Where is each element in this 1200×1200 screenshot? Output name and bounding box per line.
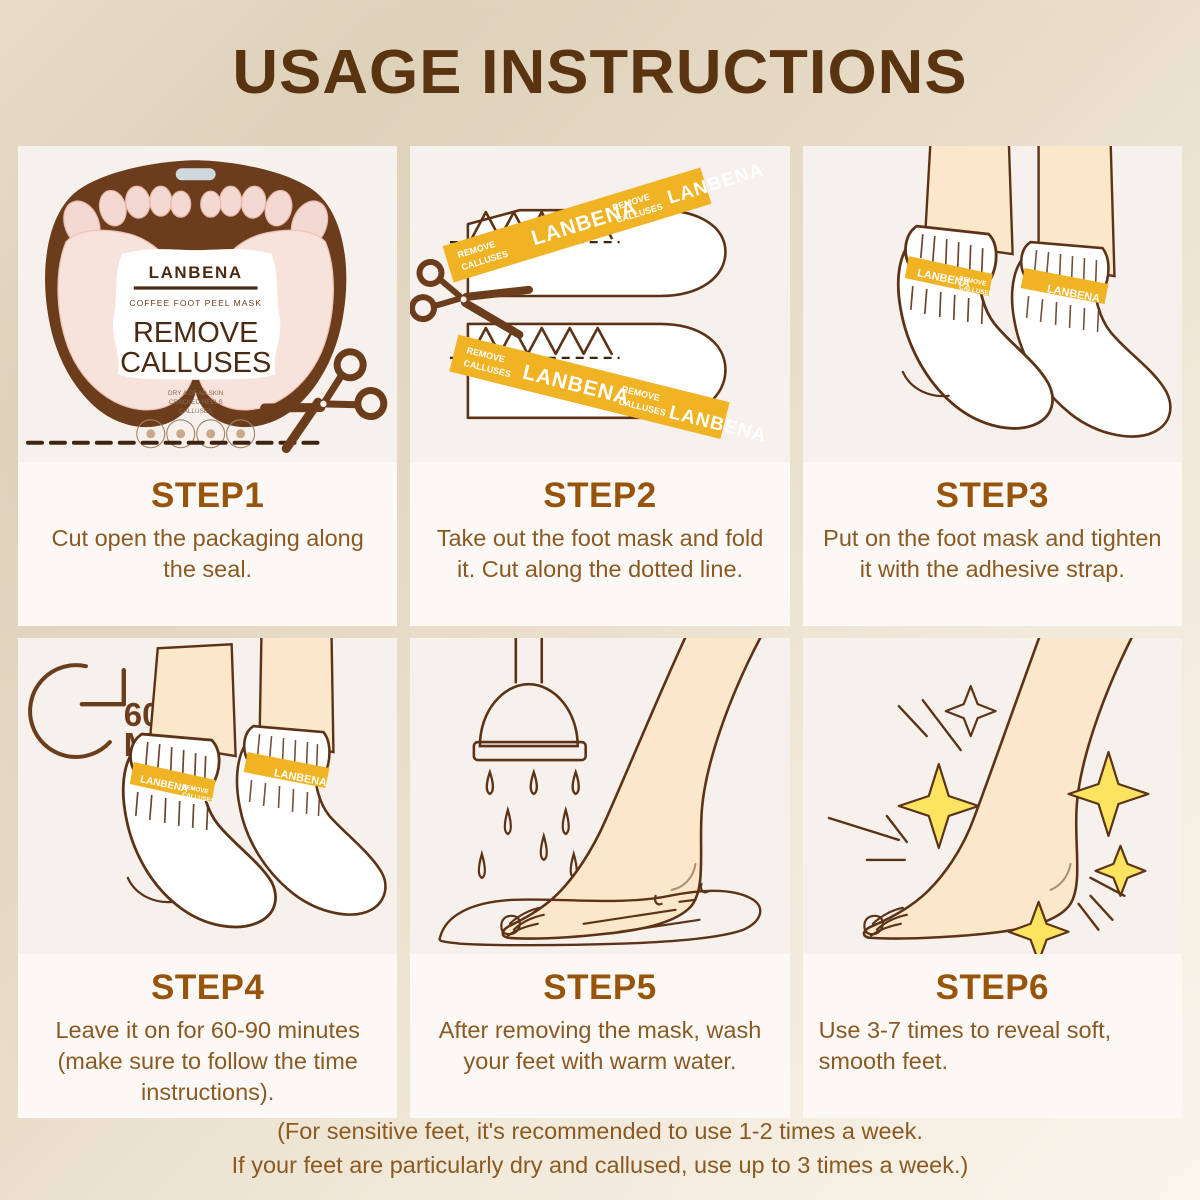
- step-6-illustration: [803, 638, 1182, 954]
- step-2-caption: STEP2 Take out the foot mask and fold it…: [410, 462, 789, 626]
- step-2-description: Take out the foot mask and fold it. Cut …: [426, 523, 773, 585]
- step-3-title: STEP3: [819, 476, 1166, 516]
- step-1-title: STEP1: [34, 476, 381, 516]
- step-4-title: STEP4: [34, 968, 381, 1008]
- step-4-caption: STEP4 Leave it on for 60-90 minutes (mak…: [18, 954, 397, 1118]
- step-6-description: Use 3-7 times to reveal soft, smooth fee…: [819, 1015, 1166, 1077]
- product-subtitle: COFFEE FOOT PEEL MASK: [129, 298, 261, 308]
- step-1-illustration: LANBENA COFFEE FOOT PEEL MASK REMOVE CAL…: [18, 146, 397, 462]
- step-3-caption: STEP3 Put on the foot mask and tighten i…: [803, 462, 1182, 626]
- step-3-description: Put on the foot mask and tighten it with…: [819, 523, 1166, 585]
- step-1-description: Cut open the packaging along the seal.: [34, 523, 381, 585]
- svg-text:DRY & DEAD SKIN: DRY & DEAD SKIN: [168, 390, 224, 397]
- product-brand: LANBENA: [149, 263, 243, 282]
- footer-line-2: If your feet are particularly dry and ca…: [0, 1149, 1200, 1182]
- step-5-caption: STEP5 After removing the mask, wash your…: [410, 954, 789, 1118]
- svg-text:CALLUSES: CALLUSES: [179, 408, 212, 415]
- step-5-description: After removing the mask, wash your feet …: [426, 1015, 773, 1077]
- water-drops: [479, 772, 579, 878]
- step-3-illustration: LANBENA: [803, 146, 1182, 462]
- step-card-3: LANBENA: [803, 146, 1182, 626]
- step-5-illustration: [410, 638, 789, 954]
- page-title: USAGE INSTRUCTIONS: [0, 0, 1200, 104]
- step-6-title: STEP6: [819, 968, 1166, 1008]
- product-headline-1: REMOVE: [133, 317, 258, 349]
- footer-note: (For sensitive feet, it's recommended to…: [0, 1115, 1200, 1182]
- svg-text:LANBENA: LANBENA: [665, 160, 766, 209]
- step-4-description: Leave it on for 60-90 minutes (make sure…: [34, 1015, 381, 1108]
- step-card-2: LANBENA REMOVE CALLUSES LANBENA REMOVE C…: [410, 146, 789, 626]
- clock-icon: [30, 665, 124, 757]
- step-1-caption: STEP1 Cut open the packaging along the s…: [18, 462, 397, 626]
- step-5-title: STEP5: [426, 968, 773, 1008]
- step-6-caption: STEP6 Use 3-7 times to reveal soft, smoo…: [803, 954, 1182, 1118]
- steps-grid: LANBENA COFFEE FOOT PEEL MASK REMOVE CAL…: [18, 146, 1182, 1118]
- step-card-1: LANBENA COFFEE FOOT PEEL MASK REMOVE CAL…: [18, 146, 397, 626]
- step-2-illustration: LANBENA REMOVE CALLUSES LANBENA REMOVE C…: [410, 146, 789, 462]
- footer-line-1: (For sensitive feet, it's recommended to…: [0, 1115, 1200, 1148]
- step-card-5: STEP5 After removing the mask, wash your…: [410, 638, 789, 1118]
- step-2-title: STEP2: [426, 476, 773, 516]
- step-card-6: STEP6 Use 3-7 times to reveal soft, smoo…: [803, 638, 1182, 1118]
- step-card-4: 60-90 MINS LANBENA: [18, 638, 397, 1118]
- product-headline-2: CALLUSES: [120, 347, 271, 379]
- shower-head-icon: [474, 638, 586, 760]
- svg-text:CRACKED HEELS: CRACKED HEELS: [169, 399, 223, 406]
- step-4-illustration: 60-90 MINS LANBENA: [18, 638, 397, 954]
